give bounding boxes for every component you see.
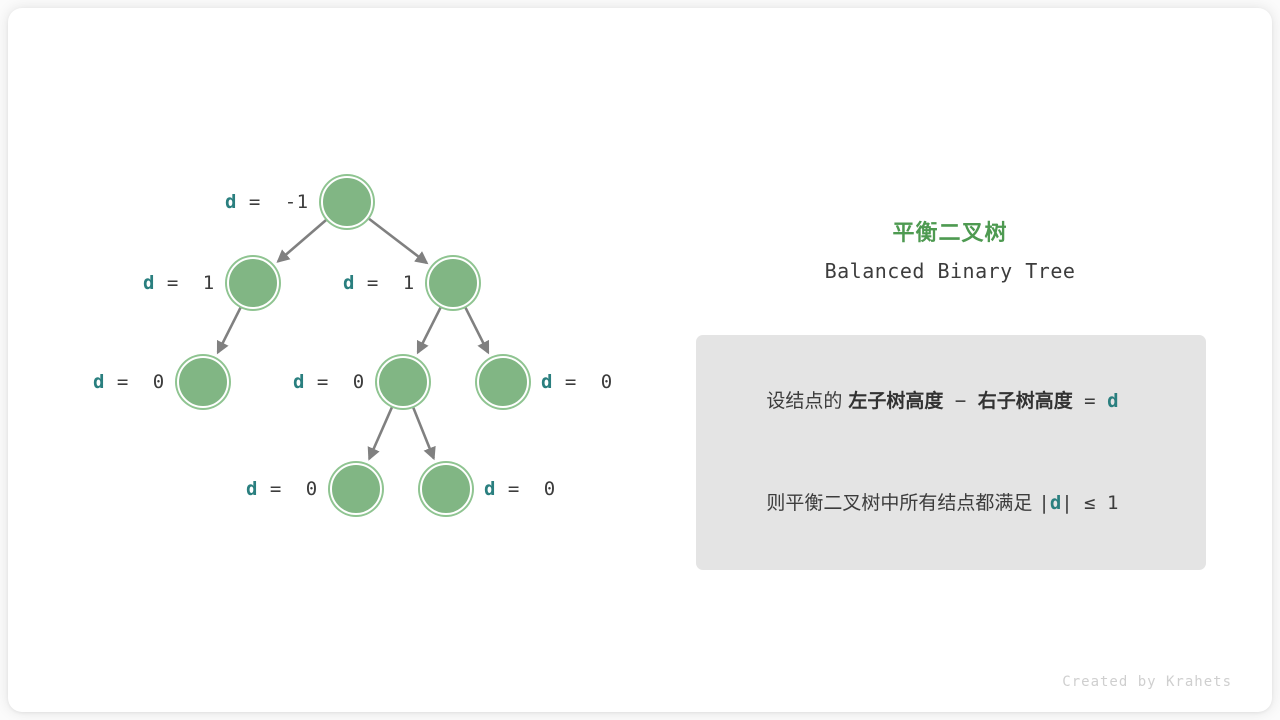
balance-factor-variable: d	[484, 478, 496, 500]
definition-line-1: 设结点的 左子树高度 − 右子树高度 = d	[718, 350, 1184, 452]
tree-edge	[218, 307, 241, 352]
tree-node-n-rr	[477, 356, 529, 408]
balance-factor-label-n-rr: d = 0	[541, 371, 613, 393]
tree-node-n-l	[227, 257, 279, 309]
balance-factor-label-n-rl: d = 0	[293, 371, 365, 393]
definition-line-1-prefix: 设结点的	[766, 390, 848, 412]
definition-line-1-minus: −	[943, 390, 977, 412]
definition-line-1-variable: d	[1107, 390, 1118, 412]
info-panel: 平衡二叉树 Balanced Binary Tree 设结点的 左子树高度 − …	[660, 215, 1240, 570]
balance-factor-value: = 0	[553, 371, 613, 393]
tree-node-n-ll	[177, 356, 229, 408]
tree-node-n-r	[427, 257, 479, 309]
balance-factor-value: = 0	[305, 371, 365, 393]
balance-factor-variable: d	[343, 272, 355, 294]
balance-factor-variable: d	[541, 371, 553, 393]
balance-factor-variable: d	[225, 191, 237, 213]
balance-factor-variable: d	[246, 478, 258, 500]
definition-line-1-bold-right: 右子树高度	[978, 390, 1073, 412]
definition-line-2-prefix: 则平衡二叉树中所有结点都满足	[766, 492, 1038, 514]
balance-factor-label-n-rlr: d = 0	[484, 478, 556, 500]
definition-line-2-relation: ≤ 1	[1073, 492, 1119, 514]
balance-factor-label-n-ll: d = 0	[93, 371, 165, 393]
tree-node-root	[321, 176, 373, 228]
balance-factor-variable: d	[143, 272, 155, 294]
tree-edge	[369, 407, 392, 459]
balance-factor-variable: d	[293, 371, 305, 393]
tree-edge	[418, 307, 441, 352]
page-title: 平衡二叉树	[660, 215, 1240, 247]
attribution-text: Created by Krahets	[1062, 674, 1232, 690]
balance-factor-value: = 0	[258, 478, 318, 500]
balance-factor-label-root: d = -1	[225, 191, 309, 213]
definition-line-2-bar-open: |	[1038, 492, 1049, 514]
definition-box: 设结点的 左子树高度 − 右子树高度 = d 则平衡二叉树中所有结点都满足 |d…	[696, 335, 1206, 570]
balance-factor-variable: d	[93, 371, 105, 393]
tree-edge	[278, 220, 327, 262]
balance-factor-value: = 0	[496, 478, 556, 500]
diagram-canvas: d = -1d = 1d = 1d = 0d = 0d = 0d = 0d = …	[0, 0, 1280, 720]
tree-edge	[368, 218, 426, 263]
balance-factor-label-n-r: d = 1	[343, 272, 415, 294]
balance-factor-value: = 1	[155, 272, 215, 294]
tree-node-n-rlr	[420, 463, 472, 515]
definition-line-1-equals: =	[1073, 390, 1107, 412]
balance-factor-value: = -1	[237, 191, 309, 213]
balance-factor-label-n-l: d = 1	[143, 272, 215, 294]
definition-line-1-bold-left: 左子树高度	[848, 390, 943, 412]
tree-edge	[465, 307, 488, 352]
definition-line-2: 则平衡二叉树中所有结点都满足 |d| ≤ 1	[718, 452, 1184, 554]
balance-factor-label-n-rll: d = 0	[246, 478, 318, 500]
balance-factor-value: = 0	[105, 371, 165, 393]
definition-line-2-variable: d	[1050, 492, 1061, 514]
tree-node-n-rl	[377, 356, 429, 408]
tree-node-n-rll	[330, 463, 382, 515]
tree-edge	[413, 407, 434, 458]
balance-factor-value: = 1	[355, 272, 415, 294]
page-subtitle: Balanced Binary Tree	[660, 259, 1240, 283]
definition-line-2-bar-close: |	[1061, 492, 1072, 514]
